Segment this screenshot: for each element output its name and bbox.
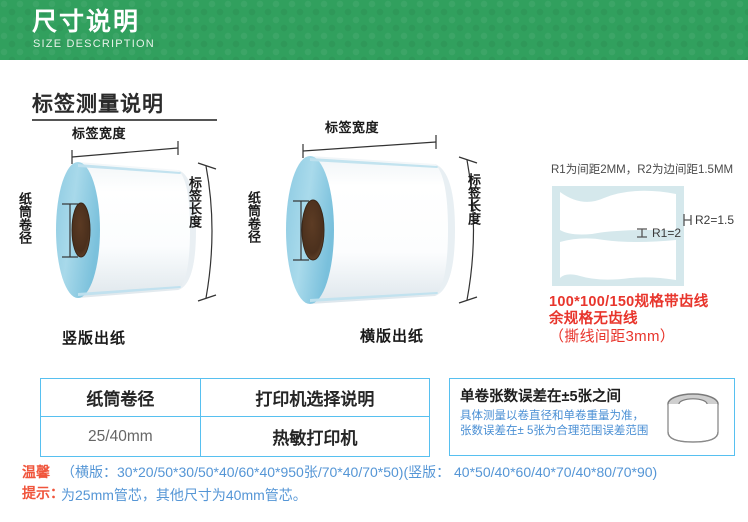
tolerance-box: 单卷张数误差在±5张之间 具体测量以卷直径和单卷重量为准， 张数误差在± 5张为… [449, 378, 735, 456]
roll-diagram-horizontal: 标签宽度 标签长度 纸筒卷径 横版出纸 [255, 118, 500, 330]
dim-label-width-horizontal: 标签宽度 [325, 117, 379, 136]
section-title-underline [32, 119, 217, 121]
r1-marker-icon [635, 226, 649, 240]
dim-label-length-vertical: 标签长度 [188, 176, 201, 228]
section-title: 标签测量说明 [32, 88, 164, 118]
banner-title: 尺寸说明 [32, 7, 140, 37]
tolerance-subtext-line-1: 具体测量以卷直径和单卷重量为准， [460, 409, 648, 424]
tolerance-subtext: 具体测量以卷直径和单卷重量为准， 张数误差在± 5张为合理范围误差范围 [460, 409, 648, 439]
tolerance-subtext-line-2: 张数误差在± 5张为合理范围误差范围 [460, 424, 648, 439]
roll-illustration-vertical-icon [28, 130, 243, 330]
page-header-banner: 尺寸说明 SIZE DESCRIPTION [0, 0, 748, 60]
spec-table: 纸筒卷径 打印机选择说明 25/40mm 热敏打印机 [40, 378, 430, 457]
table-cell-core-diameter-value: 25/40mm [41, 417, 201, 457]
footer-tip-tag-line-1: 温馨 [22, 462, 64, 483]
footer-tip-tag: 温馨 提示： [22, 462, 64, 504]
footer-text-line-2: 为25mm管芯，其他尺寸为40mm管芯。 [61, 485, 307, 506]
banner-subtitle: SIZE DESCRIPTION [33, 38, 155, 51]
dim-label-core-horizontal: 纸筒卷径 [247, 191, 260, 243]
roll-diagram-vertical: 标签宽度 标签长度 纸筒卷径 竖版出纸 [28, 130, 243, 330]
die-cut-note: R1为间距2MM，R2为边间距1.5MM [551, 161, 733, 177]
tolerance-title: 单卷张数误差在±5张之间 [460, 385, 621, 406]
footer-tip-tag-line-2: 提示： [22, 483, 64, 504]
roll-illustration-horizontal-icon [255, 118, 500, 330]
r2-value-label: R2=1.5 [695, 213, 734, 227]
dim-label-length-horizontal: 标签长度 [467, 173, 480, 225]
table-cell-printer-type-value: 热敏打印机 [200, 417, 429, 457]
paper-roll-icon [662, 387, 724, 449]
footer-text-line-1: （横版：30*20/50*30/50*40/60*40*950张/70*40/7… [61, 462, 657, 483]
roll-caption-horizontal: 横版出纸 [360, 325, 424, 346]
dim-label-width-vertical: 标签宽度 [72, 123, 126, 142]
table-header-printer-type: 打印机选择说明 [200, 379, 429, 417]
roll-caption-vertical: 竖版出纸 [62, 327, 126, 348]
r2-marker-icon [681, 212, 693, 228]
table-row: 25/40mm 热敏打印机 [41, 417, 430, 457]
r1-value-label: R1=2 [652, 226, 681, 240]
table-row-header: 纸筒卷径 打印机选择说明 [41, 379, 430, 417]
table-header-core-diameter: 纸筒卷径 [41, 379, 201, 417]
dim-label-core-vertical: 纸筒卷径 [18, 192, 31, 244]
red-note-line-3: （撕线间距3mm） [549, 325, 675, 346]
die-cut-diagram: R1=2 R2=1.5 [552, 186, 698, 291]
